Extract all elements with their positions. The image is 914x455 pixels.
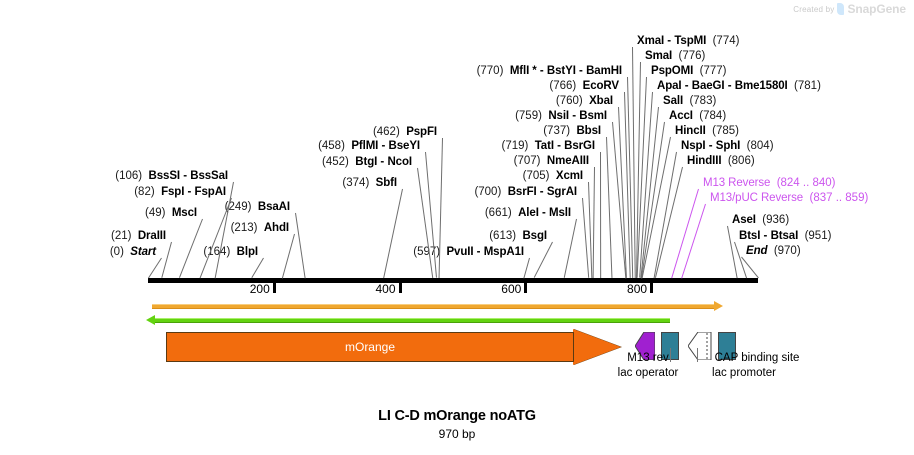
feature-caption-lac-promoter-caption: lac promoter: [712, 367, 776, 379]
sequence-ruler: 200400600800: [0, 262, 914, 302]
restriction-site-label-ecorv[interactable]: (766) EcoRV: [0, 80, 619, 93]
restriction-site-label-apai-baegi-bme1580i[interactable]: ApaI - BaeGI - Bme1580I (781): [657, 80, 821, 93]
orange-primer-arrow[interactable]: [152, 304, 715, 307]
mOrange-arrowhead-icon: [573, 329, 621, 365]
restriction-site-label-pflmi-bseyi[interactable]: (458) PflMI - BseYI: [0, 140, 420, 153]
ruler-tick-label: 600: [501, 282, 524, 296]
restriction-site-label-sali[interactable]: SalI (783): [663, 95, 716, 108]
ruler-major-tick: [650, 283, 653, 293]
restriction-site-label-xbai[interactable]: (760) XbaI: [0, 95, 613, 108]
restriction-site-label-ahdi[interactable]: (213) AhdI: [0, 222, 289, 235]
mOrange-label: mOrange: [345, 340, 395, 354]
restriction-site-label-nsii-bsmi[interactable]: (759) NsiI - BsmI: [0, 110, 607, 123]
sequence-length: 970 bp: [0, 427, 914, 441]
restriction-site-label-asei[interactable]: AseI (936): [732, 214, 789, 227]
restriction-site-label-bsaai[interactable]: (249) BsaAI: [0, 201, 290, 214]
restriction-site-label-xmai-tspmi[interactable]: XmaI - TspMI (774): [637, 35, 739, 48]
ruler-major-tick: [273, 283, 276, 293]
feature-caption-m13-rev-caption: M13 rev: [627, 352, 669, 364]
restriction-site-label-acci[interactable]: AccI (784): [669, 110, 726, 123]
restriction-site-label-pspomi[interactable]: PspOMI (777): [651, 65, 726, 78]
ruler-tick-label: 200: [250, 282, 273, 296]
orange-primer-shaft: [152, 304, 715, 309]
restriction-site-label-bsssi-bsssai[interactable]: (106) BssSI - BssSaI: [0, 170, 228, 183]
restriction-site-label-btgi-ncoi[interactable]: (452) BtgI - NcoI: [0, 156, 412, 169]
restriction-site-label-hindiii[interactable]: HindIII (806): [687, 155, 755, 168]
restriction-site-label-end[interactable]: End (970): [746, 245, 801, 258]
restriction-site-label-layer: XmaI - TspMI (774)SmaI (776)PspOMI (777)…: [0, 0, 914, 275]
sequence-backbone: [148, 278, 758, 283]
ruler-major-tick: [524, 283, 527, 293]
lac-promoter-arrow-icon: [688, 332, 712, 360]
feature-track-layer: mOrange: [0, 300, 914, 395]
restriction-site-label-hincii[interactable]: HincII (785): [675, 125, 739, 138]
feature-caption-tick: [670, 348, 671, 362]
restriction-site-label-m13-puc-reverse[interactable]: M13/pUC Reverse (837 .. 859): [710, 192, 868, 205]
green-primer-arrowhead-icon: [146, 315, 155, 325]
orange-primer-arrowhead-icon: [714, 301, 723, 311]
restriction-site-label-m13-reverse[interactable]: M13 Reverse (824 .. 840): [703, 177, 836, 190]
restriction-site-label-smai[interactable]: SmaI (776): [645, 50, 705, 63]
feature-lac-promoter[interactable]: [688, 332, 712, 360]
ruler-tick-label: 800: [627, 282, 650, 296]
ruler-major-tick: [399, 283, 402, 293]
ruler-tick-label: 400: [376, 282, 399, 296]
restriction-site-label-fspi-fspai[interactable]: (82) FspI - FspAI: [0, 186, 226, 199]
leader-line-tati-bsrgi: [600, 152, 601, 278]
green-primer-arrow[interactable]: [155, 318, 670, 321]
feature-caption-tick: [697, 348, 698, 362]
feature-caption-cap-binding-caption: CAP binding site: [715, 352, 800, 364]
green-primer-shaft: [155, 318, 670, 323]
restriction-site-label-pspfi[interactable]: (462) PspFI: [0, 126, 437, 139]
feature-mOrange[interactable]: mOrange: [166, 332, 621, 362]
restriction-site-label-nspi-sphi[interactable]: NspI - SphI (804): [681, 140, 774, 153]
title-block: LI C-D mOrange noATG 970 bp: [0, 408, 914, 441]
mOrange-body: mOrange: [166, 332, 574, 362]
feature-caption-lac-operator-caption: lac operator: [618, 367, 679, 379]
page-title: LI C-D mOrange noATG: [0, 408, 914, 424]
restriction-site-label-mfli-bstyi-bamhi[interactable]: (770) MflI * - BstYI - BamHI: [0, 65, 622, 78]
restriction-site-label-btsi-btsai[interactable]: BtsI - BtsaI (951): [739, 230, 831, 243]
